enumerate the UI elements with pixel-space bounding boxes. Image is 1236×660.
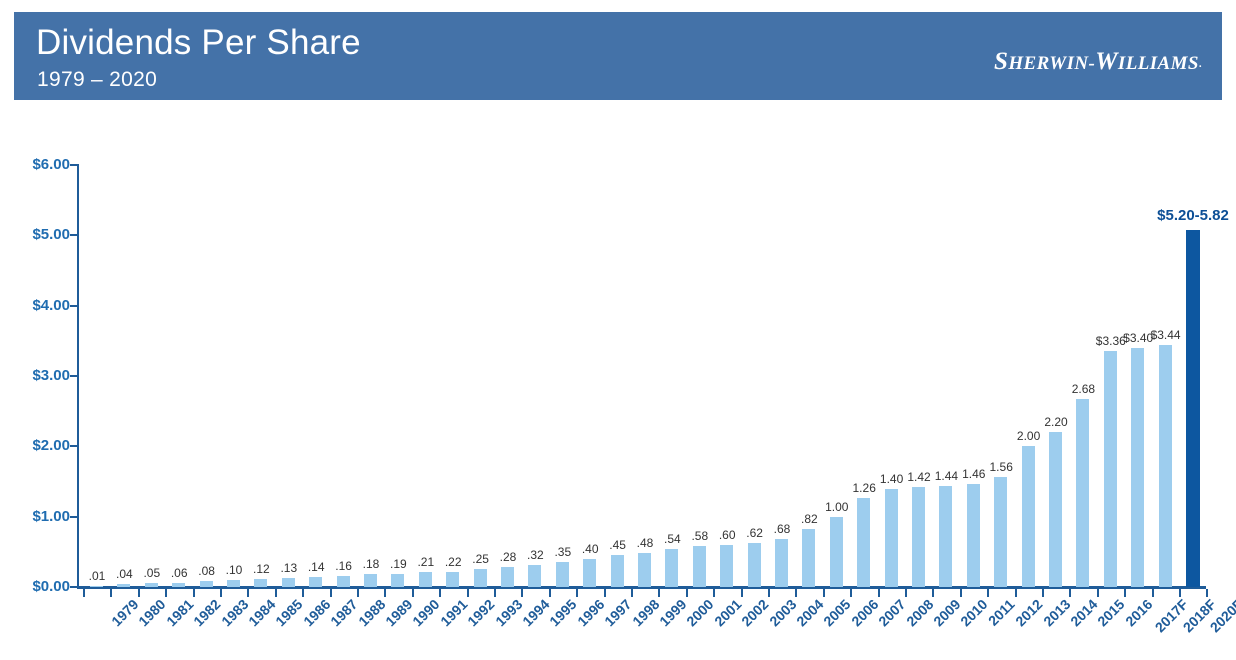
bar-value-label: .68: [774, 522, 791, 536]
x-axis-tick: [987, 589, 989, 597]
bar[interactable]: [802, 529, 815, 587]
x-axis-label: 2010: [958, 596, 991, 629]
x-axis-tick: [795, 589, 797, 597]
y-axis-label: $3.00: [32, 367, 70, 384]
bar-group[interactable]: $5.20-5.82: [1180, 165, 1206, 587]
bar[interactable]: [967, 484, 980, 587]
bar[interactable]: [1186, 230, 1200, 587]
bar[interactable]: [1076, 399, 1089, 587]
y-axis-tick: [70, 586, 78, 588]
y-axis-tick: [70, 164, 78, 166]
bar-group[interactable]: .05: [139, 165, 165, 587]
bar-group[interactable]: .25: [468, 165, 494, 587]
logo-text-herwin: HERWIN: [1008, 53, 1088, 74]
x-axis-tick: [823, 589, 825, 597]
x-axis-label: 2008: [903, 596, 936, 629]
x-axis-tick: [330, 589, 332, 597]
x-axis-label: 1984: [245, 596, 278, 629]
bar[interactable]: [1131, 348, 1144, 587]
x-axis-label: 1992: [464, 596, 497, 629]
x-axis-label: 1990: [410, 596, 443, 629]
bar[interactable]: [172, 583, 185, 587]
bar-value-label: .14: [308, 560, 325, 574]
bar[interactable]: [912, 487, 925, 587]
x-axis-label: 1981: [163, 596, 196, 629]
bar-group[interactable]: .32: [522, 165, 548, 587]
y-axis-tick: [70, 516, 78, 518]
x-axis-tick: [850, 589, 852, 597]
bar-value-label: 1.26: [853, 481, 876, 495]
x-axis-tick: [549, 589, 551, 597]
x-axis-tick: [1097, 589, 1099, 597]
x-axis-label: 1997: [601, 596, 634, 629]
bar-group[interactable]: 2.68: [1070, 165, 1096, 587]
y-axis-label: $5.00: [32, 226, 70, 243]
x-axis-tick: [275, 589, 277, 597]
bar[interactable]: [939, 486, 952, 587]
x-axis-label: 1983: [218, 596, 251, 629]
bar-value-label: .45: [609, 538, 626, 552]
bar-group[interactable]: .13: [276, 165, 302, 587]
x-axis-label: 2014: [1067, 596, 1100, 629]
bar-group[interactable]: $3.44: [1153, 165, 1179, 587]
bar[interactable]: [583, 559, 596, 587]
bar[interactable]: [254, 579, 267, 587]
bar-group[interactable]: .21: [413, 165, 439, 587]
bar[interactable]: [90, 586, 103, 587]
x-axis-label: 2004: [793, 596, 826, 629]
x-axis-tick: [576, 589, 578, 597]
bar-value-label: 1.00: [825, 500, 848, 514]
x-axis-tick: [878, 589, 880, 597]
x-axis-label: 1979: [108, 596, 141, 629]
bar-group[interactable]: .14: [303, 165, 329, 587]
page-subtitle: 1979 – 2020: [37, 67, 157, 92]
bar-value-label: 2.68: [1072, 382, 1095, 396]
bar-group[interactable]: $3.36: [1098, 165, 1124, 587]
bar[interactable]: [1049, 432, 1062, 587]
bar[interactable]: [693, 546, 706, 587]
bar-value-label: .40: [582, 542, 599, 556]
bar-group[interactable]: 1.42: [906, 165, 932, 587]
bar-value-label: 1.46: [962, 467, 985, 481]
bar-group[interactable]: .48: [632, 165, 658, 587]
bar-group[interactable]: 1.56: [988, 165, 1014, 587]
bar[interactable]: [830, 517, 843, 587]
bar-value-label: .19: [390, 557, 407, 571]
bar-group[interactable]: $3.40: [1125, 165, 1151, 587]
bar[interactable]: [857, 498, 870, 587]
bar-value-label: 2.20: [1044, 415, 1067, 429]
x-axis-tick: [768, 589, 770, 597]
bar-value-label: .06: [171, 566, 188, 580]
bar[interactable]: [748, 543, 761, 587]
sherwin-williams-logo: SHERWIN-WILLIAMS.: [994, 48, 1202, 76]
bar[interactable]: [720, 545, 733, 587]
logo-text-illiams: ILLIAMS: [1118, 53, 1199, 74]
bar[interactable]: [1159, 345, 1172, 587]
bar-value-label: .10: [226, 563, 243, 577]
x-axis-tick: [83, 589, 85, 597]
bar-group[interactable]: .68: [769, 165, 795, 587]
bar-value-label: .28: [500, 550, 517, 564]
bar-value-label: .48: [637, 536, 654, 550]
bar-value-label: $3.36: [1096, 334, 1126, 348]
bar[interactable]: [309, 577, 322, 587]
bar-group[interactable]: 1.26: [851, 165, 877, 587]
bar-value-label: .21: [417, 555, 434, 569]
bar-value-label: .62: [746, 526, 763, 540]
bar-group[interactable]: .58: [687, 165, 713, 587]
bar-group[interactable]: .82: [796, 165, 822, 587]
x-axis-tick: [220, 589, 222, 597]
plot-area: .01.04.05.06.08.10.12.13.14.16.18.19.21.…: [78, 165, 1206, 587]
x-axis-tick: [247, 589, 249, 597]
logo-letter-w: W: [1095, 48, 1118, 75]
x-axis-tick: [631, 589, 633, 597]
bar-value-label: .35: [554, 545, 571, 559]
bar-group[interactable]: .16: [331, 165, 357, 587]
x-axis-label: 1995: [547, 596, 580, 629]
x-axis-label: 1993: [492, 596, 525, 629]
x-axis-tick: [1152, 589, 1154, 597]
x-axis-label: 1982: [190, 596, 223, 629]
bar[interactable]: [474, 569, 487, 587]
bar-group[interactable]: .18: [358, 165, 384, 587]
bar-value-label: .04: [116, 567, 133, 581]
bar-group[interactable]: 2.00: [1016, 165, 1042, 587]
y-axis-label: $6.00: [32, 156, 70, 173]
bar[interactable]: [665, 549, 678, 587]
x-axis-label: 1994: [519, 596, 552, 629]
y-axis-tick: [70, 445, 78, 447]
bar-value-label: 1.42: [907, 470, 930, 484]
x-axis-label: 2013: [1040, 596, 1073, 629]
x-axis-tick: [110, 589, 112, 597]
x-axis-tick: [905, 589, 907, 597]
bar-value-label: .12: [253, 562, 270, 576]
bar[interactable]: [556, 562, 569, 587]
bar-group[interactable]: .04: [111, 165, 137, 587]
bar-group[interactable]: 1.44: [933, 165, 959, 587]
x-axis-tick: [1124, 589, 1126, 597]
bar[interactable]: [638, 553, 651, 587]
x-axis-tick: [412, 589, 414, 597]
bar-group[interactable]: .12: [248, 165, 274, 587]
bar[interactable]: [419, 572, 432, 587]
bar-value-label: .32: [527, 548, 544, 562]
bar[interactable]: [364, 574, 377, 587]
bar[interactable]: [1022, 446, 1035, 587]
bar-value-label: $3.44: [1151, 328, 1181, 342]
x-axis-label: 2003: [766, 596, 799, 629]
bar-group[interactable]: .22: [440, 165, 466, 587]
x-axis-label: 1985: [273, 596, 306, 629]
bar-value-label: .22: [445, 555, 462, 569]
x-axis-tick: [1042, 589, 1044, 597]
bar[interactable]: [391, 574, 404, 587]
logo-letter-s1: S: [994, 48, 1008, 75]
bar[interactable]: [1104, 351, 1117, 587]
bar[interactable]: [611, 555, 624, 587]
x-axis-tick: [138, 589, 140, 597]
logo-registered-icon: .: [1199, 58, 1202, 70]
y-axis-label: $1.00: [32, 508, 70, 525]
x-axis-label: 2007: [875, 596, 908, 629]
bar-value-label: 1.44: [935, 469, 958, 483]
bar-value-label: .82: [801, 512, 818, 526]
header-banner: Dividends Per Share 1979 – 2020 SHERWIN-…: [14, 12, 1222, 100]
x-axis-tick: [165, 589, 167, 597]
x-axis-tick: [467, 589, 469, 597]
bar[interactable]: [337, 576, 350, 587]
x-axis-tick: [384, 589, 386, 597]
bar[interactable]: [885, 489, 898, 587]
x-axis-tick: [932, 589, 934, 597]
bar-group[interactable]: .10: [221, 165, 247, 587]
x-axis-tick: [521, 589, 523, 597]
x-axis-label: 1999: [656, 596, 689, 629]
bar[interactable]: [227, 580, 240, 587]
dividends-bar-chart: $0.00$1.00$2.00$3.00$4.00$5.00$6.00 .01.…: [0, 100, 1236, 660]
x-axis-label: 2002: [738, 596, 771, 629]
bar-group[interactable]: .06: [166, 165, 192, 587]
x-axis-label: 1998: [629, 596, 662, 629]
bar[interactable]: [528, 565, 541, 588]
y-axis-label: $2.00: [32, 437, 70, 454]
y-axis-tick: [70, 375, 78, 377]
x-axis-tick: [1069, 589, 1071, 597]
bar[interactable]: [446, 572, 459, 587]
x-axis-tick: [494, 589, 496, 597]
x-axis-tick: [604, 589, 606, 597]
x-axis-tick-end: [1206, 589, 1208, 597]
bar-value-label: $5.20-5.82: [1157, 207, 1229, 224]
bar-value-label: .60: [719, 528, 736, 542]
x-axis-tick: [302, 589, 304, 597]
x-axis-label: 2015: [1095, 596, 1128, 629]
bar-value-label: .58: [691, 529, 708, 543]
x-axis-label: 2006: [848, 596, 881, 629]
x-axis-label: 1988: [355, 596, 388, 629]
bar-group[interactable]: 1.40: [879, 165, 905, 587]
x-axis-label: 2009: [930, 596, 963, 629]
bar-group[interactable]: .35: [550, 165, 576, 587]
bar[interactable]: [145, 583, 158, 587]
bar-value-label: .25: [472, 552, 489, 566]
x-axis-label: 1980: [136, 596, 169, 629]
bar-value-label: $3.40: [1123, 331, 1153, 345]
bar-value-label: .54: [664, 532, 681, 546]
x-axis-label: 2012: [1012, 596, 1045, 629]
bar-group[interactable]: .40: [577, 165, 603, 587]
bar-group[interactable]: .62: [742, 165, 768, 587]
x-axis-tick: [741, 589, 743, 597]
bar[interactable]: [775, 539, 788, 587]
bar-group[interactable]: .01: [84, 165, 110, 587]
x-axis-tick: [1015, 589, 1017, 597]
x-axis-label: 2005: [821, 596, 854, 629]
bar-group[interactable]: .45: [605, 165, 631, 587]
bar-group[interactable]: .60: [714, 165, 740, 587]
x-axis-label: 2016: [1122, 596, 1155, 629]
x-axis-label: 2011: [985, 596, 1018, 629]
bar-group[interactable]: 1.46: [961, 165, 987, 587]
x-axis-tick: [713, 589, 715, 597]
x-axis-label: 1987: [327, 596, 360, 629]
y-axis-label: $0.00: [32, 578, 70, 595]
bar-value-label: 1.56: [990, 460, 1013, 474]
x-axis-tick: [686, 589, 688, 597]
y-axis-label: $4.00: [32, 297, 70, 314]
x-axis-label: 1989: [382, 596, 415, 629]
bar-group[interactable]: 2.20: [1043, 165, 1069, 587]
bar[interactable]: [501, 567, 514, 587]
bar-value-label: .16: [335, 559, 352, 573]
y-axis-tick: [70, 234, 78, 236]
bar-group[interactable]: .28: [495, 165, 521, 587]
bar[interactable]: [282, 578, 295, 587]
bar[interactable]: [117, 584, 130, 587]
bar-group[interactable]: .54: [659, 165, 685, 587]
x-axis-tick: [357, 589, 359, 597]
bar[interactable]: [994, 477, 1007, 587]
bar-value-label: 2.00: [1017, 429, 1040, 443]
bar-value-label: .08: [198, 564, 215, 578]
bar[interactable]: [200, 581, 213, 587]
x-axis-tick: [193, 589, 195, 597]
bar-group[interactable]: 1.00: [824, 165, 850, 587]
x-axis-label: 1986: [300, 596, 333, 629]
x-axis-tick: [439, 589, 441, 597]
y-axis-tick: [70, 305, 78, 307]
x-axis-label: 1996: [574, 596, 607, 629]
x-axis-tick: [1179, 589, 1181, 597]
bar-value-label: .05: [143, 566, 160, 580]
bar-value-label: 1.40: [880, 472, 903, 486]
x-axis-label: 2000: [684, 596, 717, 629]
bar-value-label: .01: [89, 569, 106, 583]
x-axis-tick: [960, 589, 962, 597]
x-axis-label: 2001: [711, 596, 744, 629]
bar-value-label: .18: [363, 557, 380, 571]
bar-group[interactable]: .19: [385, 165, 411, 587]
bar-group[interactable]: .08: [194, 165, 220, 587]
x-axis-label: 1991: [437, 596, 470, 629]
page-title: Dividends Per Share: [36, 23, 361, 63]
x-axis-tick: [658, 589, 660, 597]
bar-value-label: .13: [280, 561, 297, 575]
